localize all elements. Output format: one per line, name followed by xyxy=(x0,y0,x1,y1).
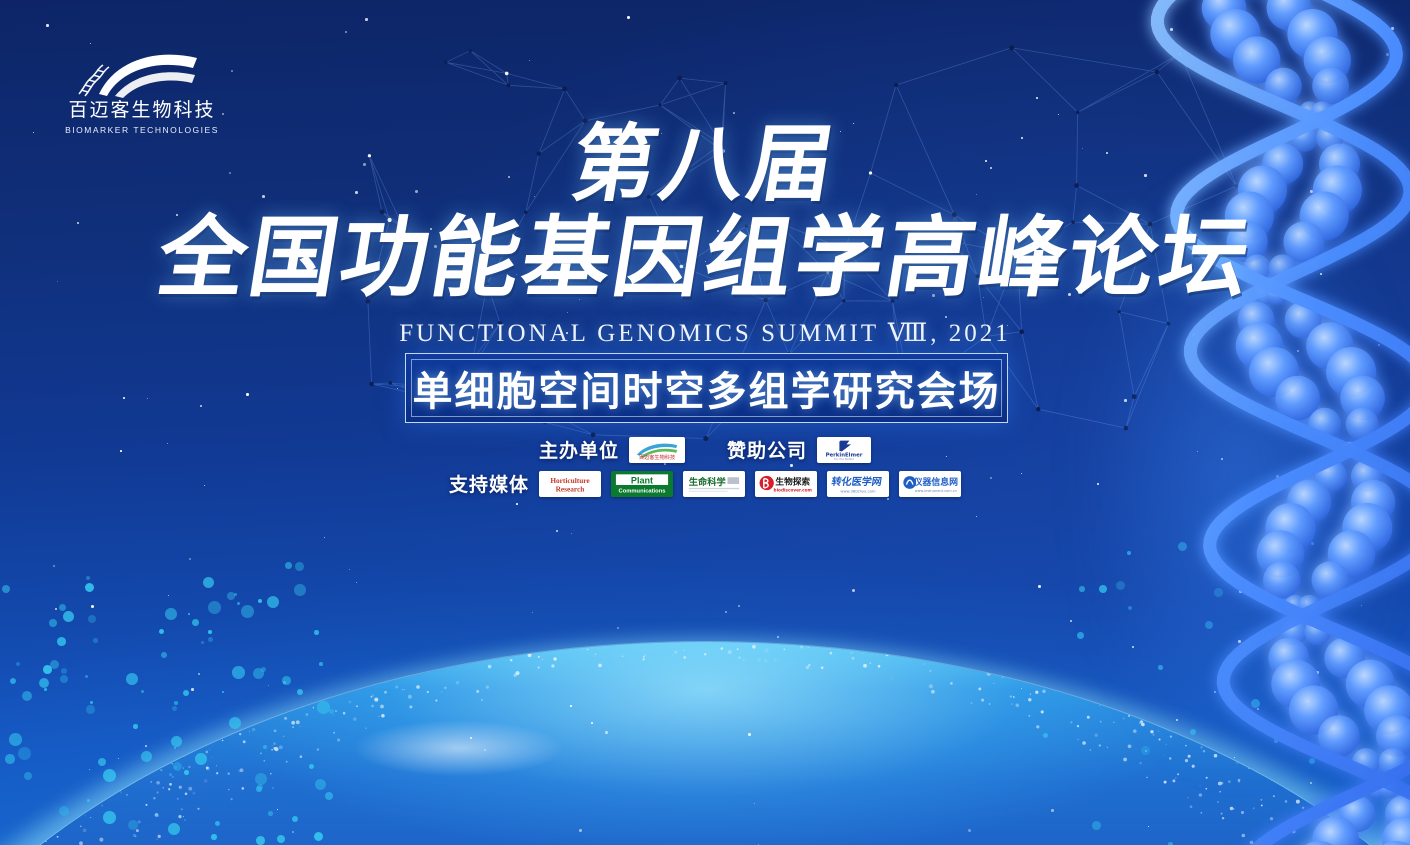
bokeh-dot xyxy=(85,583,94,592)
bokeh-dot xyxy=(258,599,262,603)
bokeh-dot xyxy=(39,678,49,688)
bokeh-dot xyxy=(203,577,214,588)
star xyxy=(189,558,191,560)
star xyxy=(168,595,169,596)
bokeh-dot xyxy=(282,676,291,685)
bokeh-dot xyxy=(44,688,47,691)
svg-text:仪器信息网: 仪器信息网 xyxy=(913,475,958,487)
bokeh-dot xyxy=(234,593,237,596)
star xyxy=(556,530,558,532)
star xyxy=(852,589,855,592)
bokeh-dot xyxy=(93,638,98,643)
star xyxy=(887,498,889,500)
bokeh-dot xyxy=(201,641,204,644)
star xyxy=(516,503,518,505)
bokeh-dot xyxy=(183,690,189,696)
star xyxy=(145,745,147,747)
organizer-sponsor-row: 主办单位 百迈客生物科技 赞助公司 PerkinElmer For the Be… xyxy=(0,436,1410,463)
bokeh-dot xyxy=(294,584,306,596)
bokeh-dot xyxy=(49,619,57,627)
bokeh-dot xyxy=(319,662,323,666)
svg-text:www.360zhyx.com: www.360zhyx.com xyxy=(840,489,876,493)
svg-text:Communications: Communications xyxy=(619,488,666,494)
bokeh-dot xyxy=(232,666,245,679)
organizer-label: 主办单位 xyxy=(539,436,619,463)
bokeh-dot xyxy=(16,662,20,666)
bokeh-dot xyxy=(314,630,319,635)
star xyxy=(738,605,740,607)
bokeh-dot xyxy=(192,619,199,626)
svg-text:Plant: Plant xyxy=(631,475,653,485)
bokeh-dot xyxy=(208,637,213,642)
bokeh-dot xyxy=(188,613,190,615)
instrument-info-logo[interactable]: 仪器信息网 www.instrument.com.cn xyxy=(899,471,961,497)
logo-cn-text: 百迈客生物科技 xyxy=(62,100,222,121)
bokeh-dot xyxy=(237,602,240,605)
bokeh-dot xyxy=(86,576,90,580)
perkinelmer-logo[interactable]: PerkinElmer For the Better xyxy=(817,437,871,463)
star xyxy=(268,685,269,686)
bokeh-dot xyxy=(57,637,66,646)
svg-text:www.instrument.com.cn: www.instrument.com.cn xyxy=(915,489,957,493)
bokeh-dot xyxy=(295,562,304,571)
bokeh-dot xyxy=(22,691,32,701)
svg-text:百迈客生物科技: 百迈客生物科技 xyxy=(639,453,675,461)
bokeh-dot xyxy=(227,592,235,600)
biomarker-technologies-logo[interactable]: 百迈客生物科技 xyxy=(629,437,685,463)
title-line-1: 第八届 xyxy=(566,120,844,208)
bokeh-dot xyxy=(165,608,177,620)
star xyxy=(617,627,619,629)
star xyxy=(118,758,119,759)
bokeh-dot xyxy=(208,630,212,634)
star xyxy=(53,565,55,567)
bokeh-dot xyxy=(63,611,74,622)
bokeh-dot xyxy=(141,690,144,693)
bokeh-dot xyxy=(10,678,16,684)
media-label: 支持媒体 xyxy=(449,470,529,497)
bokeh-dot xyxy=(283,681,286,684)
bokeh-dot xyxy=(88,615,96,623)
bokeh-dot xyxy=(261,667,266,672)
svg-text:Horticulture: Horticulture xyxy=(550,476,590,485)
bokeh-dot xyxy=(172,706,177,711)
bokeh-dot xyxy=(208,601,221,614)
bokeh-dot xyxy=(5,754,15,764)
bokeh-dot xyxy=(9,733,22,746)
bokeh-dot xyxy=(90,701,93,704)
star xyxy=(324,537,325,538)
bokeh-dot xyxy=(86,705,95,714)
star xyxy=(191,688,194,691)
plant-communications-logo[interactable]: Plant Communications xyxy=(611,471,673,497)
star xyxy=(725,611,727,613)
bokeh-dot xyxy=(285,562,292,569)
session-title-text: 单细胞空间时空多组学研究会场 xyxy=(413,359,1001,417)
bokeh-dot xyxy=(161,652,167,658)
bokeh-dot xyxy=(59,604,66,611)
star xyxy=(532,612,533,613)
translational-medicine-logo[interactable]: 转化医学网 www.360zhyx.com xyxy=(827,471,889,497)
bokeh-dot xyxy=(98,758,106,766)
bokeh-dot xyxy=(133,724,138,729)
media-row: 支持媒体 Horticulture Research Plant Communi… xyxy=(0,470,1410,497)
bokeh-dot xyxy=(60,675,68,683)
bokeh-dot xyxy=(253,668,264,679)
bokeh-dot xyxy=(50,660,59,669)
star xyxy=(356,582,357,583)
star xyxy=(198,673,200,675)
star xyxy=(91,605,94,608)
bokeh-dot xyxy=(241,605,254,618)
svg-text:Research: Research xyxy=(556,484,585,493)
biodiscover-logo[interactable]: 生物探索 biodiscover.com xyxy=(755,471,817,497)
svg-text:转化医学网: 转化医学网 xyxy=(831,475,883,488)
title-line-2: 全国功能基因组学高峰论坛 xyxy=(151,210,1258,306)
star xyxy=(349,569,350,570)
bokeh-dot xyxy=(126,673,138,685)
dna-arc-logo-icon xyxy=(71,44,213,98)
svg-text:For the Better: For the Better xyxy=(834,457,855,461)
bokeh-dot xyxy=(61,668,67,674)
sponsor-label: 赞助公司 xyxy=(727,436,807,463)
bokeh-dot xyxy=(267,596,279,608)
bokeh-dot xyxy=(222,691,224,693)
bokeh-dot xyxy=(24,772,32,780)
shengming-kexue-logo[interactable]: 生命科学 xyxy=(683,471,745,497)
star xyxy=(89,769,90,770)
horticulture-research-logo[interactable]: Horticulture Research xyxy=(539,471,601,497)
partners-block: 主办单位 百迈客生物科技 赞助公司 PerkinElmer For the Be… xyxy=(0,436,1410,497)
star xyxy=(55,608,57,610)
bokeh-dot xyxy=(43,665,52,674)
event-poster: 百迈客生物科技 BIOMARKER TECHNOLOGIES 第八届 全国功能基… xyxy=(0,0,1410,845)
title-english: FUNCTIONAL GENOMICS SUMMIT Ⅷ, 2021 xyxy=(0,318,1410,348)
bokeh-dot xyxy=(18,747,31,760)
session-title-box: 单细胞空间时空多组学研究会场 xyxy=(405,353,1008,423)
bokeh-dot xyxy=(174,701,178,705)
bokeh-dot xyxy=(159,629,164,634)
bokeh-dot xyxy=(85,675,88,678)
bokeh-dot xyxy=(2,585,10,593)
svg-text:生命科学: 生命科学 xyxy=(689,475,726,487)
svg-text:biodiscover.com: biodiscover.com xyxy=(774,487,813,492)
svg-text:生物探索: 生物探索 xyxy=(775,475,810,487)
star xyxy=(571,533,572,534)
title-block: 第八届 全国功能基因组学高峰论坛 FUNCTIONAL GENOMICS SUM… xyxy=(0,120,1410,348)
